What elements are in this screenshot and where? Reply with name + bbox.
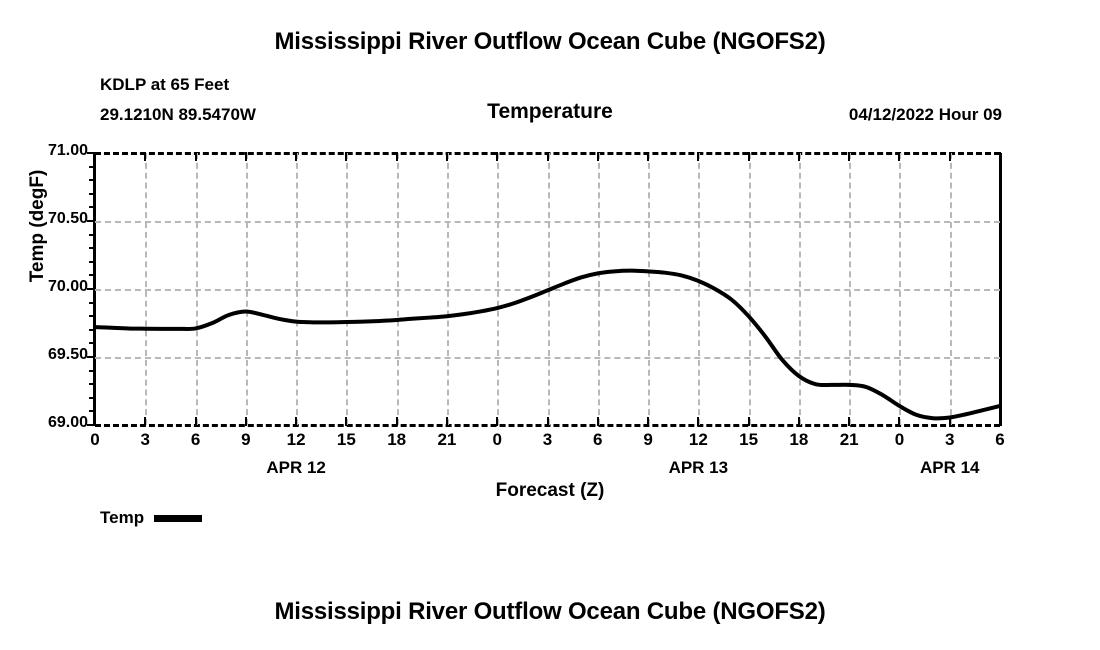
y-tick-label: 69.00 [48,414,88,432]
y-tick-minor [89,274,95,276]
x-tick-top [496,152,498,161]
x-tick-major [195,417,197,426]
gridline-vertical [849,153,851,425]
gridline-vertical [648,153,650,425]
footer-title: Mississippi River Outflow Ocean Cube (NG… [0,598,1100,626]
gridline-vertical [246,153,248,425]
x-tick-label: 9 [643,430,652,450]
x-tick-major [949,417,951,426]
gridline-vertical [497,153,499,425]
y-tick-minor [89,383,95,385]
x-tick-label: 15 [739,430,758,450]
y-tick-minor [89,166,95,168]
legend-label-temp: Temp [100,508,144,528]
x-tick-label: 0 [895,430,904,450]
model-run-timestamp: 04/12/2022 Hour 09 [849,105,1002,125]
x-tick-top [647,152,649,161]
x-tick-top [898,152,900,161]
x-tick-top [949,152,951,161]
x-tick-label: 21 [437,430,456,450]
x-tick-top [848,152,850,161]
x-tick-major [748,417,750,426]
y-tick-label: 69.50 [48,346,88,364]
x-tick-label: 6 [191,430,200,450]
x-tick-major [597,417,599,426]
y-tick-label: 70.50 [48,210,88,228]
gridline-vertical [548,153,550,425]
gridline-vertical [749,153,751,425]
y-tick-minor [89,329,95,331]
x-axis-label: Forecast (Z) [0,480,1100,502]
x-tick-major [446,417,448,426]
x-tick-major [345,417,347,426]
x-tick-major [496,417,498,426]
x-tick-label: 6 [593,430,602,450]
station-depth-label: KDLP at 65 Feet [100,75,229,95]
x-tick-top [999,152,1001,161]
x-tick-major [647,417,649,426]
x-tick-label: 9 [241,430,250,450]
x-tick-label: 15 [337,430,356,450]
chart-page: Mississippi River Outflow Ocean Cube (NG… [0,0,1100,650]
x-tick-label: 3 [543,430,552,450]
x-tick-major [295,417,297,426]
y-tick-major [87,288,95,290]
x-axis-day-label: APR 13 [669,458,729,478]
y-tick-minor [89,261,95,263]
gridline-vertical [196,153,198,425]
gridline-vertical [698,153,700,425]
x-tick-top [144,152,146,161]
gridline-vertical [950,153,952,425]
x-tick-top [597,152,599,161]
y-tick-minor [89,193,95,195]
x-tick-label: 21 [840,430,859,450]
x-tick-label: 0 [492,430,501,450]
x-tick-top [697,152,699,161]
gridline-vertical [799,153,801,425]
x-axis-day-label: APR 14 [920,458,980,478]
data-series-layer [0,0,1100,650]
x-tick-major [848,417,850,426]
x-tick-label: 6 [995,430,1004,450]
gridline-vertical [397,153,399,425]
y-tick-minor [89,397,95,399]
x-tick-label: 12 [689,430,708,450]
y-tick-major [87,356,95,358]
x-tick-label: 18 [789,430,808,450]
y-tick-minor [89,206,95,208]
y-tick-minor [89,370,95,372]
y-tick-minor [89,179,95,181]
x-tick-top [195,152,197,161]
x-tick-major [999,417,1001,426]
x-tick-top [798,152,800,161]
x-axis-day-label: APR 12 [266,458,326,478]
gridline-vertical [296,153,298,425]
y-tick-minor [89,342,95,344]
x-tick-top [396,152,398,161]
gridline-vertical [899,153,901,425]
x-tick-top [345,152,347,161]
x-tick-major [898,417,900,426]
x-tick-major [144,417,146,426]
x-tick-major [245,417,247,426]
x-tick-label: 3 [141,430,150,450]
y-tick-minor [89,247,95,249]
x-tick-major [396,417,398,426]
x-tick-label: 0 [90,430,99,450]
y-tick-label: 70.00 [48,278,88,296]
gridline-vertical [145,153,147,425]
x-tick-top [245,152,247,161]
y-tick-minor [89,302,95,304]
x-tick-label: 18 [387,430,406,450]
gridline-vertical [598,153,600,425]
x-tick-major [94,417,96,426]
y-tick-major [87,220,95,222]
x-tick-top [547,152,549,161]
legend: Temp [100,508,202,528]
x-tick-top [94,152,96,161]
x-tick-major [547,417,549,426]
x-tick-top [446,152,448,161]
y-tick-label: 71.00 [48,142,88,160]
y-axis-label: Temp (degF) [27,126,49,326]
x-tick-top [295,152,297,161]
page-title: Mississippi River Outflow Ocean Cube (NG… [0,28,1100,56]
x-tick-label: 3 [945,430,954,450]
x-tick-major [697,417,699,426]
x-tick-major [798,417,800,426]
legend-swatch-temp [154,515,202,522]
y-tick-minor [89,410,95,412]
y-tick-minor [89,315,95,317]
gridline-vertical [447,153,449,425]
y-tick-minor [89,234,95,236]
x-tick-top [748,152,750,161]
gridline-vertical [346,153,348,425]
x-tick-label: 12 [287,430,306,450]
